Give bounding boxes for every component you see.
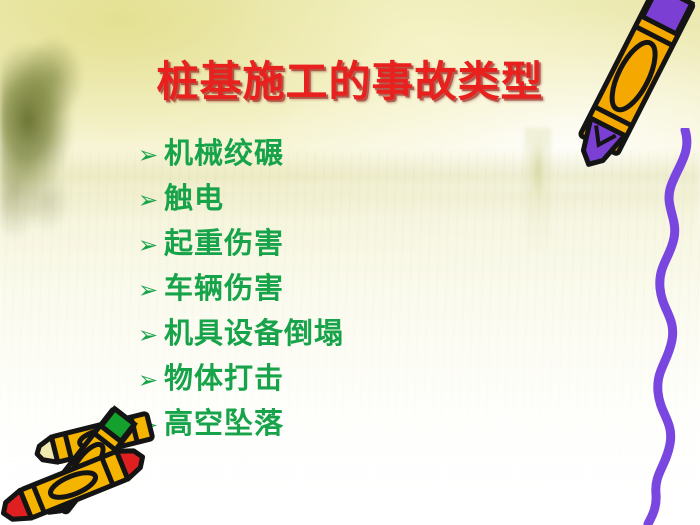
list-item: ➢ 高空坠落 xyxy=(138,402,518,447)
bullet-list: ➢ 机械绞碾 ➢ 触电 ➢ 起重伤害 ➢ 车辆伤害 ➢ 机具设备倒塌 ➢ 物体打… xyxy=(138,132,518,447)
arrow-bullet-icon: ➢ xyxy=(138,359,164,404)
list-item: ➢ 车辆伤害 xyxy=(138,267,518,312)
list-item: ➢ 机具设备倒塌 xyxy=(138,312,518,357)
list-item-label: 触电 xyxy=(164,177,224,222)
list-item-label: 高空坠落 xyxy=(164,402,284,447)
list-item-label: 起重伤害 xyxy=(164,222,284,267)
list-item: ➢ 物体打击 xyxy=(138,357,518,402)
list-item: ➢ 起重伤害 xyxy=(138,222,518,267)
list-item-label: 物体打击 xyxy=(164,357,284,402)
arrow-bullet-icon: ➢ xyxy=(138,179,164,224)
list-item: ➢ 机械绞碾 xyxy=(138,132,518,177)
list-item: ➢ 触电 xyxy=(138,177,518,222)
list-item-label: 车辆伤害 xyxy=(164,267,284,312)
arrow-bullet-icon: ➢ xyxy=(138,134,164,179)
arrow-bullet-icon: ➢ xyxy=(138,314,164,359)
arrow-bullet-icon: ➢ xyxy=(138,404,164,449)
presentation-slide: 桩基施工的事故类型 ➢ 机械绞碾 ➢ 触电 ➢ 起重伤害 ➢ 车辆伤害 ➢ 机具… xyxy=(0,0,700,525)
list-item-label: 机械绞碾 xyxy=(164,132,284,177)
list-item-label: 机具设备倒塌 xyxy=(164,312,344,357)
slide-title: 桩基施工的事故类型 xyxy=(0,48,700,109)
crayon-squiggle-line xyxy=(638,128,700,525)
arrow-bullet-icon: ➢ xyxy=(138,269,164,314)
arrow-bullet-icon: ➢ xyxy=(138,224,164,269)
background-wheat-ear xyxy=(525,128,551,258)
